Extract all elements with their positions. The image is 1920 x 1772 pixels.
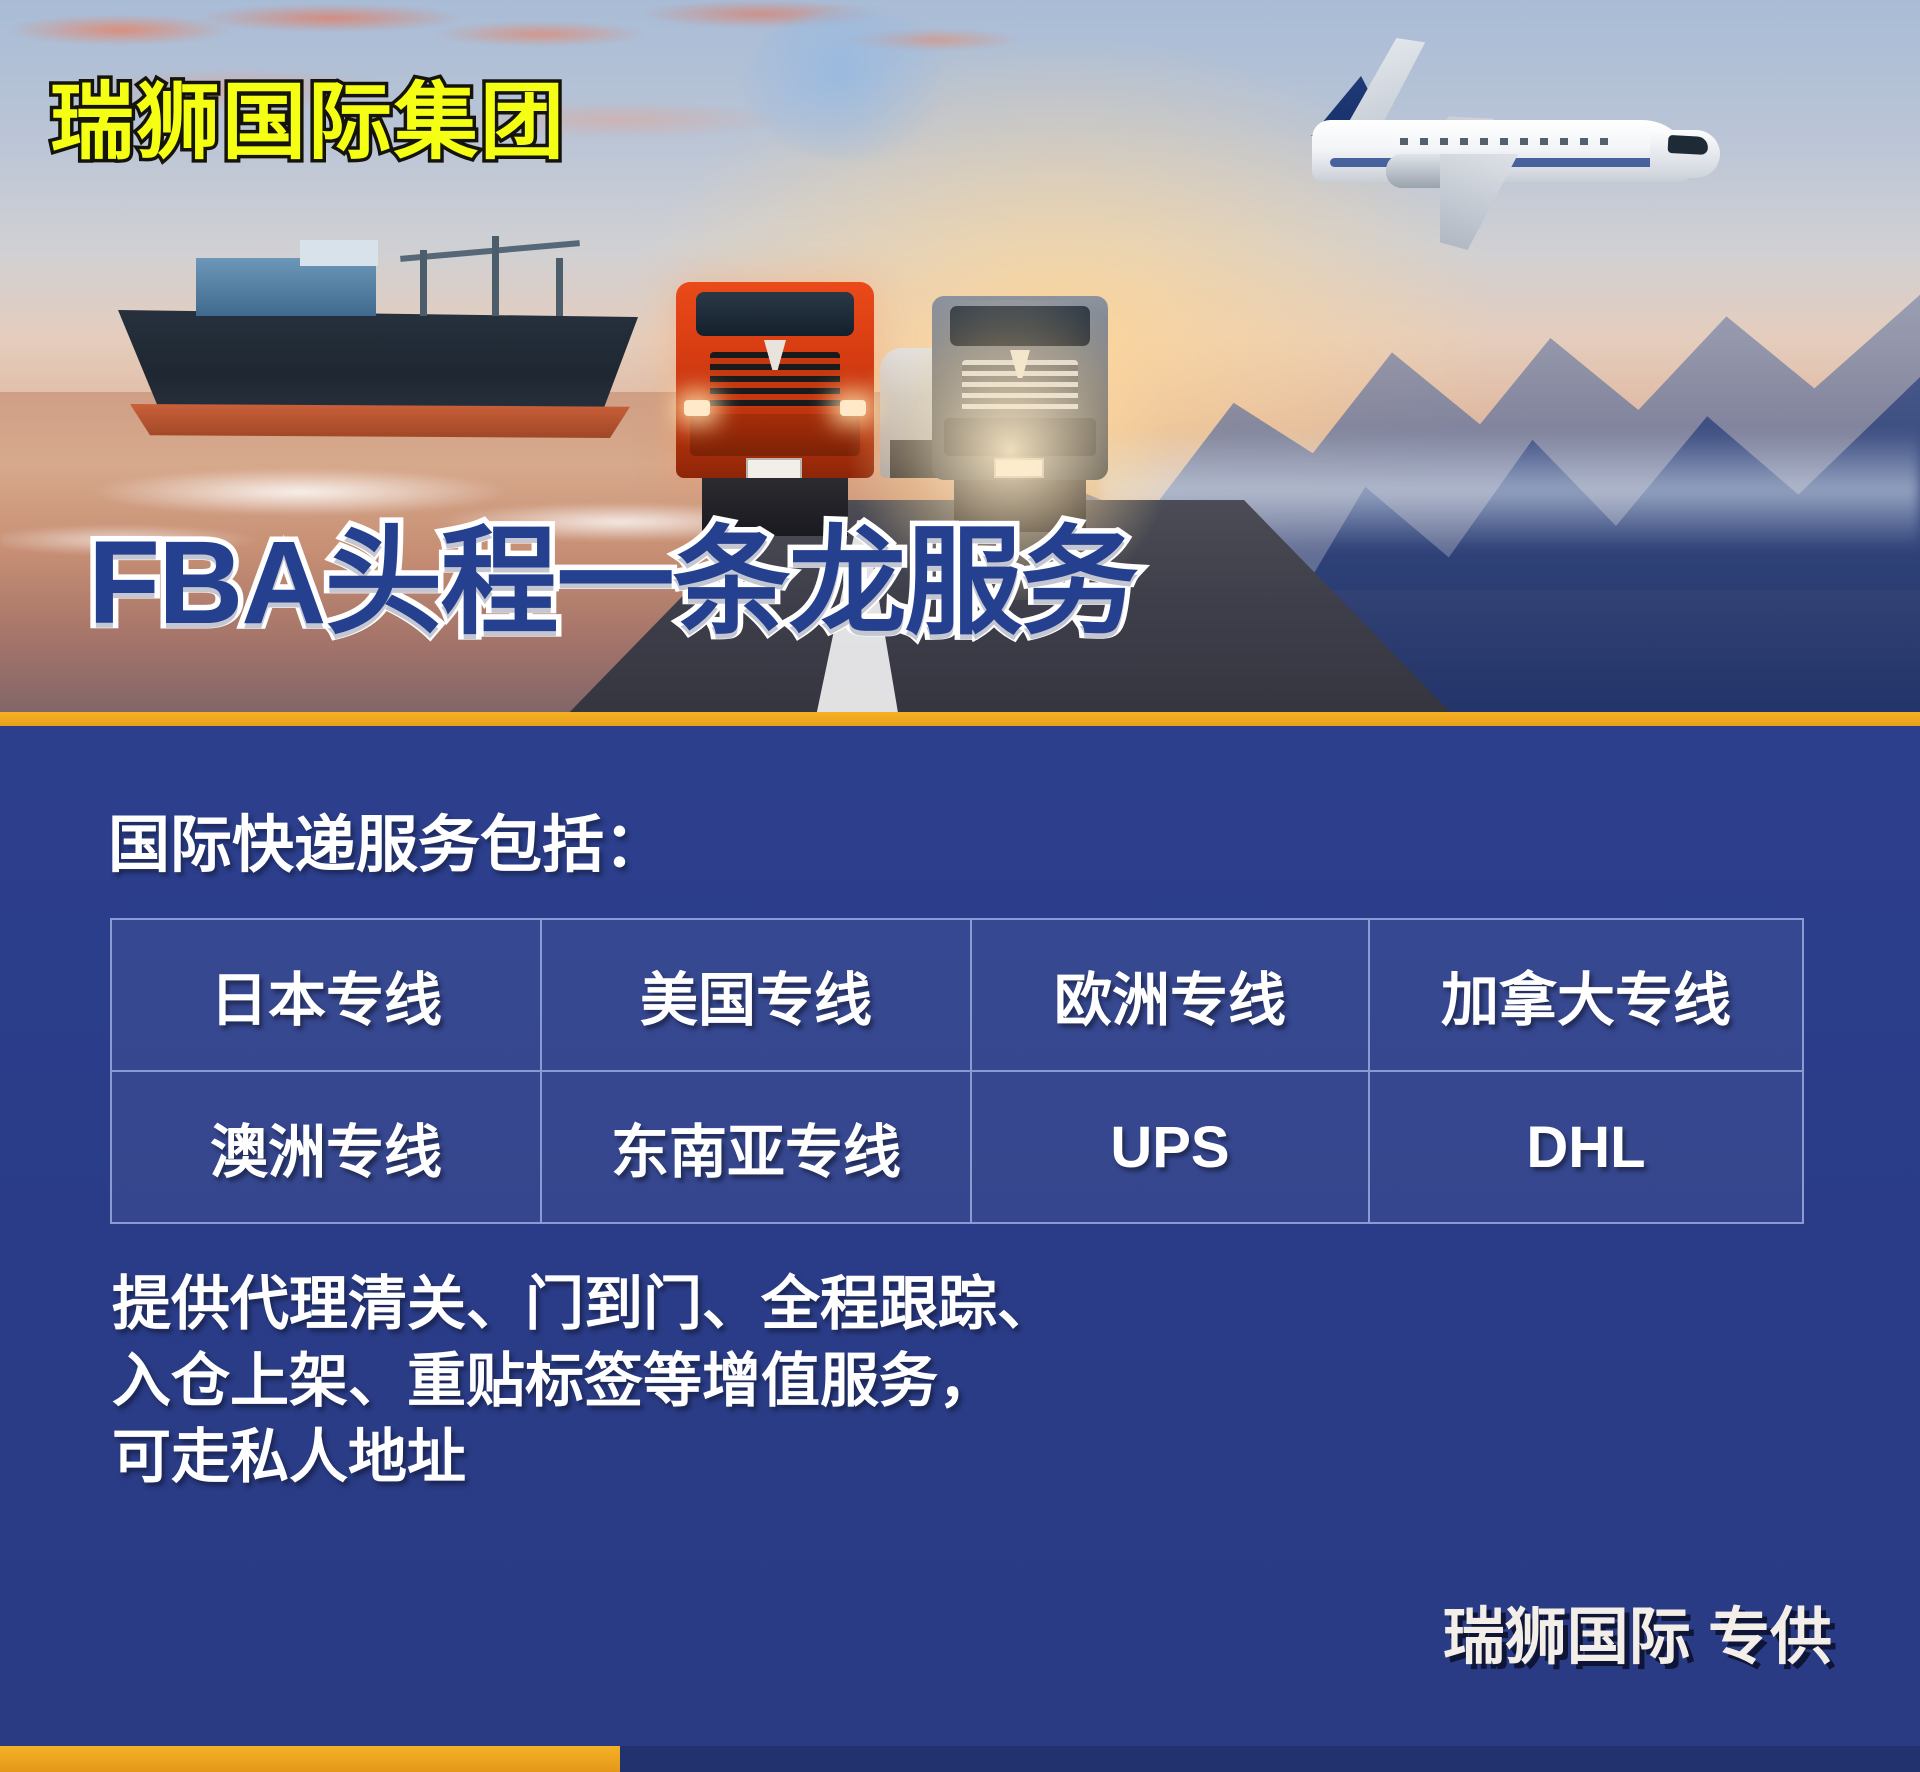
description-line-1: 提供代理清关、门到门、全程跟踪、	[112, 1266, 1056, 1343]
table-cell-australia: 澳洲专线	[111, 1071, 541, 1223]
page-title: FBA头程一条龙服务	[88, 524, 1137, 642]
service-lines-table: 日本专线 美国专线 欧洲专线 加拿大专线 澳洲专线 东南亚专线 UPS DHL	[110, 918, 1804, 1224]
table-cell-japan: 日本专线	[111, 919, 541, 1071]
footer-brand-tag: 瑞狮国际 专供	[1443, 1586, 1832, 1676]
brand-logo: 瑞狮国际集团	[50, 80, 566, 164]
description-line-3: 可走私人地址	[112, 1419, 1056, 1496]
table-row: 日本专线 美国专线 欧洲专线 加拿大专线	[111, 919, 1803, 1071]
red-semi-truck-icon	[676, 282, 874, 532]
table-cell-europe: 欧洲专线	[971, 919, 1369, 1071]
table-cell-canada: 加拿大专线	[1369, 919, 1803, 1071]
cargo-airplane-icon	[1290, 34, 1730, 249]
table-row: 澳洲专线 东南亚专线 UPS DHL	[111, 1071, 1803, 1223]
table-cell-southeast-asia: 东南亚专线	[541, 1071, 971, 1223]
bottom-strip	[0, 1746, 1920, 1772]
description-line-2: 入仓上架、重贴标签等增值服务，	[112, 1343, 1056, 1420]
bottom-strip-gold-segment	[0, 1746, 620, 1772]
description-block: 提供代理清关、门到门、全程跟踪、 入仓上架、重贴标签等增值服务， 可走私人地址	[112, 1266, 1056, 1496]
content-panel: 国际快递服务包括： 日本专线 美国专线 欧洲专线 加拿大专线 澳洲专线 东南亚专…	[0, 726, 1920, 1772]
table-cell-ups: UPS	[971, 1071, 1369, 1223]
poster-root: 瑞狮国际集团 FBA头程一条龙服务 国际快递服务包括： 日本专线 美国专线 欧洲…	[0, 0, 1920, 1772]
grey-semi-truck-icon	[932, 296, 1108, 532]
sky-glow	[745, 10, 955, 160]
section-heading: 国际快递服务包括：	[108, 794, 666, 884]
hero-banner: 瑞狮国际集团 FBA头程一条龙服务	[0, 0, 1920, 722]
table-cell-usa: 美国专线	[541, 919, 971, 1071]
gold-divider	[0, 712, 1920, 726]
table-cell-dhl: DHL	[1369, 1071, 1803, 1223]
